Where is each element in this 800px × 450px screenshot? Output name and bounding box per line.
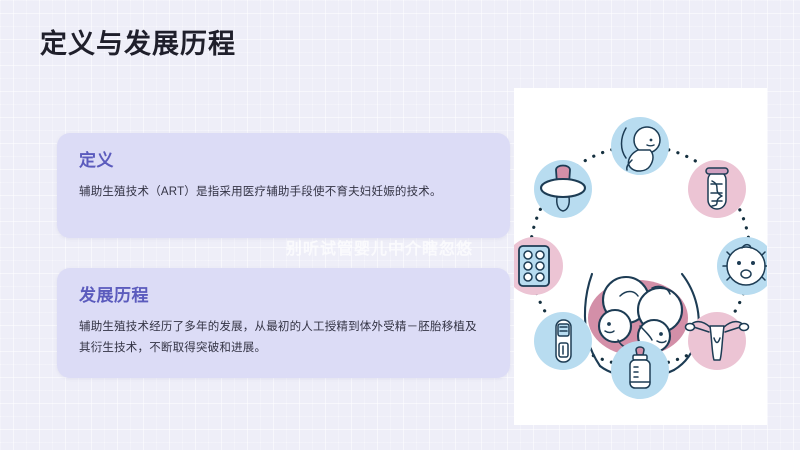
watermark-text: 别听试管婴儿中介瞎忽悠 xyxy=(286,240,473,260)
card-body-definition: 辅助生殖技术（ART）是指采用医疗辅助手段使不育夫妇妊娠的技术。 xyxy=(79,182,488,203)
pacifier-icon xyxy=(534,160,592,218)
pregnancy-test-icon xyxy=(534,312,592,370)
card-heading-definition: 定义 xyxy=(79,149,488,173)
dna-test-tube-icon xyxy=(688,160,746,218)
fertility-cycle-illustration: .ln { fill:none; stroke:#1d3c54; stroke-… xyxy=(514,88,767,425)
baby-face-icon xyxy=(717,237,767,295)
content-card-history: 发展历程 辅助生殖技术经历了多年的发展，从最初的人工授精到体外受精－胚胎移植及其… xyxy=(57,268,510,378)
illustration-panel: .ln { fill:none; stroke:#1d3c54; stroke-… xyxy=(514,88,767,425)
page-title: 定义与发展历程 xyxy=(40,27,236,61)
card-heading-history: 发展历程 xyxy=(79,284,488,308)
fetus-icon xyxy=(611,117,669,175)
card-body-history: 辅助生殖技术经历了多年的发展，从最初的人工授精到体外受精－胚胎移植及其衍生技术，… xyxy=(79,317,488,359)
slide-canvas: 定义与发展历程 定义 辅助生殖技术（ART）是指采用医疗辅助手段使不育夫妇妊娠的… xyxy=(0,0,800,450)
uterus-icon xyxy=(686,312,749,370)
pill-blister-pack-icon xyxy=(514,237,563,295)
baby-bottle-icon xyxy=(611,341,669,399)
content-card-definition: 定义 辅助生殖技术（ART）是指采用医疗辅助手段使不育夫妇妊娠的技术。 xyxy=(57,133,510,238)
